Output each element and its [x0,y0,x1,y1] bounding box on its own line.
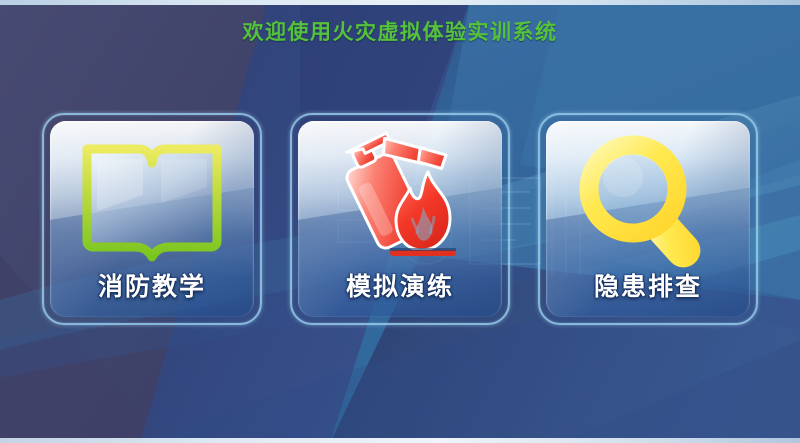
open-book-icon [77,137,227,265]
bottom-edge-strip [0,438,800,443]
main-menu: 消防教学 [0,113,800,325]
panel-surface: 隐患排查 [546,121,750,317]
menu-item-label: 隐患排查 [546,267,750,303]
menu-item-simulation-drill[interactable]: 模拟演练 [290,113,510,325]
page-title: 欢迎使用火灾虚拟体验实训系统 [243,16,558,46]
icon-container [546,127,750,275]
menu-item-label: 消防教学 [50,267,254,303]
top-edge-strip [0,0,800,5]
icon-container [50,127,254,275]
magnifying-glass-icon [573,133,723,269]
menu-item-fire-safety-teaching[interactable]: 消防教学 [42,113,262,325]
icon-container [298,127,502,275]
menu-item-hazard-inspection[interactable]: 隐患排查 [538,113,758,325]
title-band: 欢迎使用火灾虚拟体验实训系统 [0,5,800,57]
fire-extinguisher-flame-icon [316,130,484,272]
panel-surface: 模拟演练 [298,121,502,317]
panel-surface: 消防教学 [50,121,254,317]
menu-item-label: 模拟演练 [298,267,502,303]
fire-training-system-screen: 欢迎使用火灾虚拟体验实训系统 [0,0,800,443]
